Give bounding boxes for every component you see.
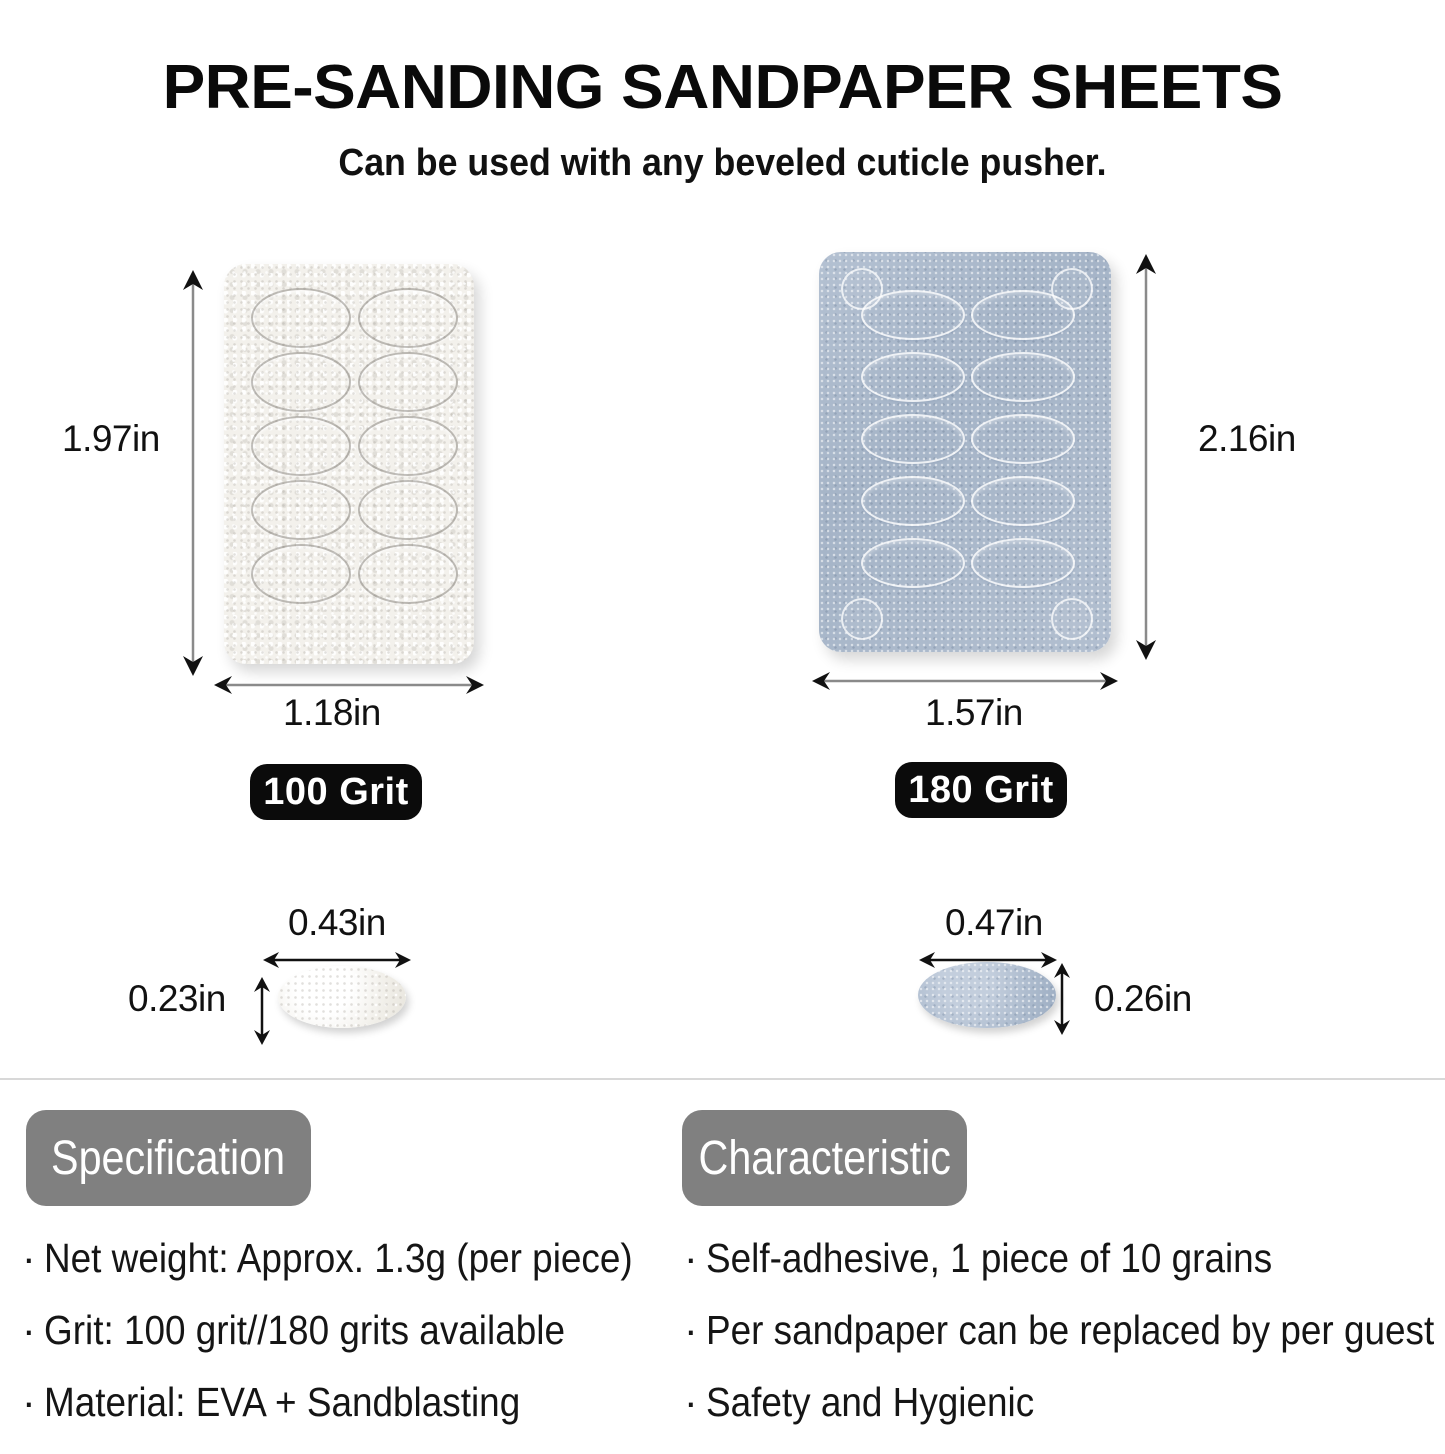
corner-circle-cutout [841, 598, 883, 640]
chip-height-label-100grit: 0.23in [128, 978, 226, 1020]
list-item-label: Grit: 100 grit//180 grits available [44, 1310, 565, 1351]
chip-width-label-180grit: 0.47in [945, 902, 1043, 944]
height-label-180grit: 2.16in [1198, 418, 1296, 460]
bullet-dot-icon: · [22, 1382, 44, 1423]
corner-circle-cutout [1051, 598, 1093, 640]
chip-height-label-180grit: 0.26in [1094, 978, 1192, 1020]
page-subtitle: Can be used with any beveled cuticle pus… [43, 142, 1401, 185]
oval-cutout [358, 352, 458, 412]
oval-cutout [861, 538, 965, 588]
oval-cutout [358, 416, 458, 476]
page-title: PRE-SANDING SANDPAPER SHEETS [0, 52, 1445, 123]
chip-height-arrow-100grit [250, 976, 274, 1046]
list-item: · Self-adhesive, 1 piece of 10 grains [684, 1238, 1445, 1279]
bullet-dot-icon: · [22, 1238, 44, 1279]
list-item-label: Self-adhesive, 1 piece of 10 grains [706, 1238, 1272, 1279]
characteristic-heading-label: Characteristic [698, 1131, 950, 1186]
specification-heading: Specification [26, 1110, 311, 1206]
sandpaper-sheet-180grit [819, 252, 1111, 652]
oval-cutout [358, 480, 458, 540]
list-item-label: Safety and Hygienic [706, 1382, 1034, 1423]
oval-cutout [971, 290, 1075, 340]
oval-cutout [861, 476, 965, 526]
infographic-canvas: PRE-SANDING SANDPAPER SHEETS Can be used… [0, 0, 1445, 1445]
list-item-label: Material: EVA + Sandblasting [44, 1382, 520, 1423]
height-arrow-100grit [176, 268, 210, 678]
characteristic-list: · Self-adhesive, 1 piece of 10 grains · … [684, 1238, 1445, 1454]
height-arrow-180grit [1129, 252, 1163, 662]
oval-cutout [971, 476, 1075, 526]
bullet-dot-icon: · [684, 1310, 706, 1351]
list-item-label: Per sandpaper can be replaced by per gue… [706, 1310, 1434, 1351]
oval-cutout [861, 414, 965, 464]
oval-cutout [861, 290, 965, 340]
width-arrow-180grit [810, 668, 1120, 694]
specification-heading-label: Specification [51, 1131, 285, 1186]
oval-cutout [251, 352, 351, 412]
specification-list: · Net weight: Approx. 1.3g (per piece) ·… [22, 1238, 698, 1454]
list-item: · Net weight: Approx. 1.3g (per piece) [22, 1238, 698, 1279]
list-item-label: Net weight: Approx. 1.3g (per piece) [44, 1238, 633, 1279]
oval-cutout [251, 288, 351, 348]
list-item: · Per sandpaper can be replaced by per g… [684, 1310, 1445, 1351]
sandpaper-chip-100grit [278, 966, 406, 1028]
bullet-dot-icon: · [684, 1238, 706, 1279]
bullet-dot-icon: · [22, 1310, 44, 1351]
oval-cutout [358, 288, 458, 348]
section-divider [0, 1078, 1445, 1080]
grit-badge-100: 100 Grit [250, 764, 422, 820]
width-label-180grit: 1.57in [925, 692, 1023, 734]
oval-cutout [251, 416, 351, 476]
oval-cutout [251, 544, 351, 604]
sandpaper-chip-180grit [918, 962, 1056, 1028]
height-label-100grit: 1.97in [62, 418, 160, 460]
grit-badge-180: 180 Grit [895, 762, 1067, 818]
list-item: · Safety and Hygienic [684, 1382, 1445, 1423]
oval-cutout [861, 352, 965, 402]
sandpaper-sheet-100grit [224, 264, 474, 664]
bullet-dot-icon: · [684, 1382, 706, 1423]
oval-cutout [971, 414, 1075, 464]
oval-cutout [971, 352, 1075, 402]
width-label-100grit: 1.18in [283, 692, 381, 734]
oval-cutout [971, 538, 1075, 588]
chip-height-arrow-180grit [1050, 962, 1074, 1036]
list-item: · Material: EVA + Sandblasting [22, 1382, 698, 1423]
oval-cutout [358, 544, 458, 604]
list-item: · Grit: 100 grit//180 grits available [22, 1310, 698, 1351]
characteristic-heading: Characteristic [682, 1110, 967, 1206]
oval-cutout [251, 480, 351, 540]
chip-width-label-100grit: 0.43in [288, 902, 386, 944]
